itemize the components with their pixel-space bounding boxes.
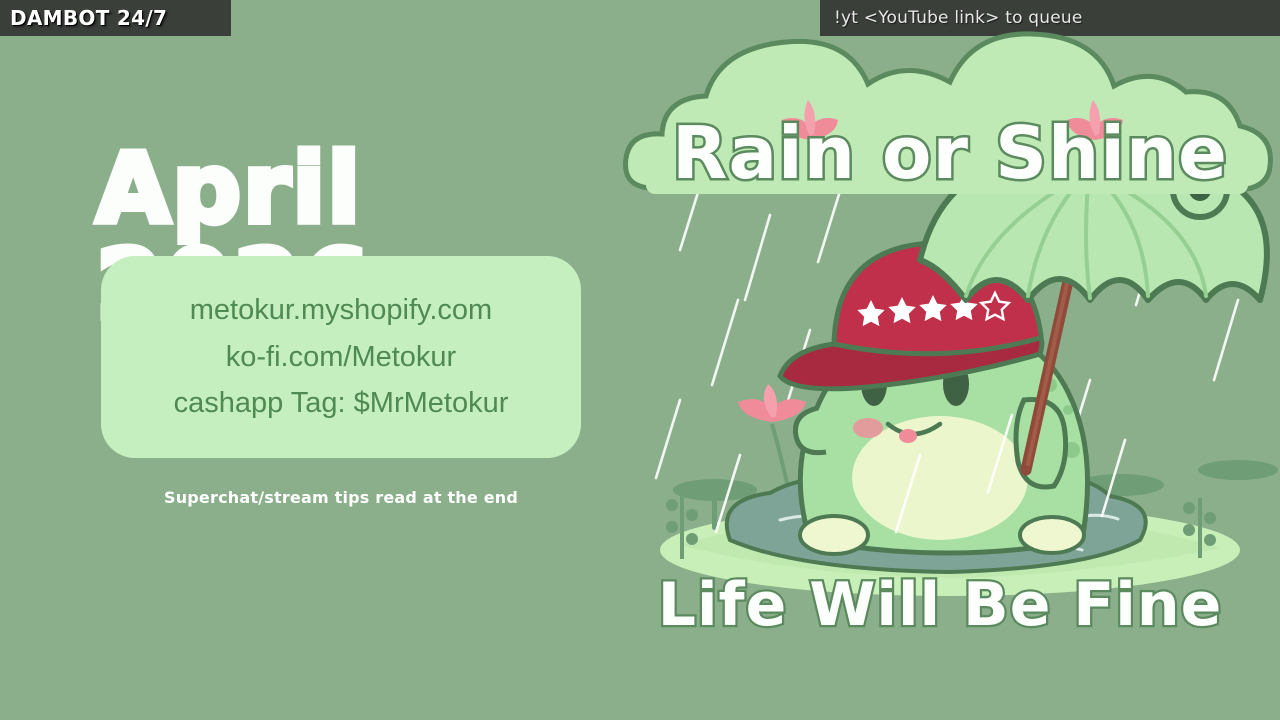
- cashapp-tag-text: cashapp Tag: $MrMetokur: [174, 381, 509, 426]
- dambot-status-bar: DAMBOT 24/7: [0, 0, 231, 36]
- illustration-subline: Life Will Be Fine: [658, 570, 1223, 640]
- superchat-note: Superchat/stream tips read at the end: [101, 488, 581, 507]
- frog-blush: [853, 418, 883, 438]
- frog-tongue: [899, 429, 917, 443]
- illustration-headline: Rain or Shine: [672, 111, 1228, 195]
- rain-or-shine-illustration: Rain or Shine Life Will Be Fine: [620, 0, 1280, 720]
- lotus-bloom: [738, 384, 806, 422]
- shop-link-text: metokur.myshopify.com: [190, 288, 492, 333]
- dambot-status-label: DAMBOT 24/7: [10, 6, 167, 30]
- cloud-banner: Rain or Shine: [626, 34, 1271, 195]
- support-links-box: metokur.myshopify.com ko-fi.com/Metokur …: [101, 256, 581, 458]
- kofi-link-text: ko-fi.com/Metokur: [226, 335, 456, 380]
- left-content-column: April 2026 metokur.myshopify.com ko-fi.c…: [0, 36, 620, 720]
